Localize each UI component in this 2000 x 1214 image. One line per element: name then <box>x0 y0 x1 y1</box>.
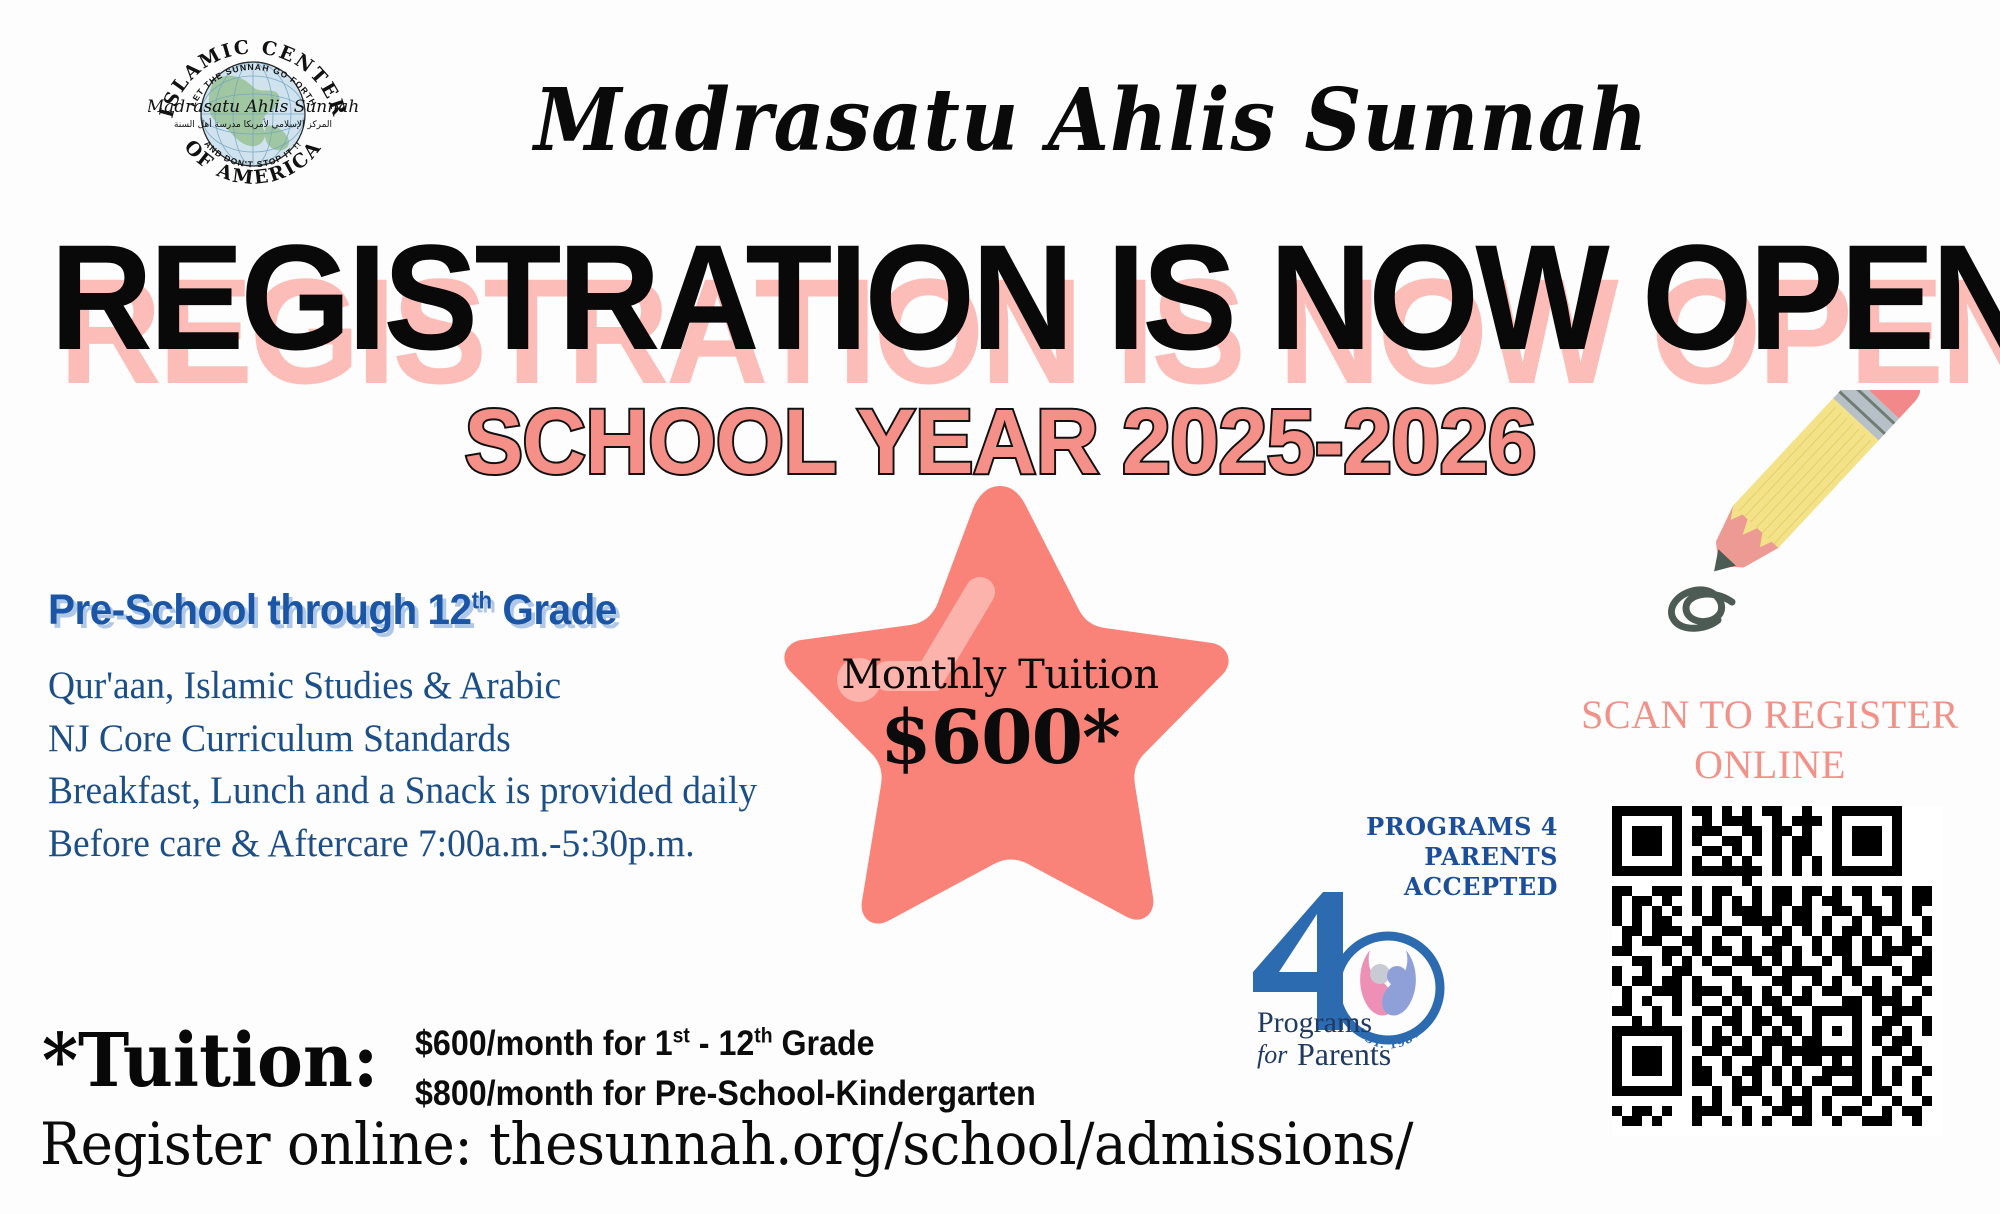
monthly-tuition-amount: $600* <box>760 698 1240 779</box>
grade-range-pre: Pre-School through 12 <box>48 586 472 634</box>
scan-to-register-label: SCAN TO REGISTER ONLINE <box>1560 690 1980 790</box>
registration-flyer: ISLAMIC CENTER LET THE SUNNAH GO FORTH A… <box>0 0 2000 1214</box>
p4p-word-for: for <box>1257 1040 1288 1069</box>
p4p-word-parents: Parents <box>1297 1036 1391 1072</box>
programs-for-parents-logo: EST. 1984 Programs for Parents <box>1245 880 1475 1090</box>
p4p-word-programs: Programs <box>1257 1006 1372 1039</box>
registration-qr-code[interactable] <box>1612 806 1942 1136</box>
tuition-line1-post: Grade <box>773 1024 875 1063</box>
register-online-link[interactable]: Register online: thesunnah.org/school/ad… <box>40 1115 1413 1173</box>
list-item: Qur'aan, Islamic Studies & Arabic <box>48 660 757 713</box>
grade-range-sup: th <box>472 589 492 615</box>
tuition-heading: *Tuition: <box>42 1024 378 1098</box>
grade-range-heading: Pre-School through 12th Grade <box>48 586 617 635</box>
program-feature-list: Qur'aan, Islamic Studies & Arabic NJ Cor… <box>48 660 757 871</box>
p4p-label-line1: PROGRAMS 4 PARENTS <box>1238 812 1558 872</box>
tuition-line-1: $600/month for 1st - 12th Grade <box>415 1019 1036 1069</box>
list-item: Before care & Aftercare 7:00a.m.-5:30p.m… <box>48 818 757 871</box>
star-badge-text: Monthly Tuition $600* <box>760 652 1240 779</box>
scan-label-line2: ONLINE <box>1560 740 1980 790</box>
seal-center-arabic: المركز الإسلامي لأمريكا مدرسة أهل السنة <box>174 118 332 130</box>
school-name-title: Madrasatu Ahlis Sunnah <box>534 78 1546 164</box>
list-item: NJ Core Curriculum Standards <box>48 713 757 766</box>
school-seal-logo: ISLAMIC CENTER LET THE SUNNAH GO FORTH A… <box>148 26 358 201</box>
tuition-line1-sup2: th <box>754 1024 772 1047</box>
grade-range-post: Grade <box>492 586 617 634</box>
seal-center-name: Madrasatu Ahlis Sunnah <box>148 97 358 117</box>
tuition-line1-sup1: st <box>673 1024 690 1047</box>
monthly-tuition-label: Monthly Tuition <box>760 652 1240 698</box>
pencil-icon <box>1620 390 1920 640</box>
headline-text: REGISTRATION IS NOW OPEN <box>50 222 1950 372</box>
tuition-detail-lines: $600/month for 1st - 12th Grade $800/mon… <box>415 1019 1036 1118</box>
headline-block: REGISTRATION IS NOW OPEN REGISTRATION IS… <box>0 222 2000 392</box>
pencil-illustration <box>1620 390 1920 640</box>
tuition-line1-pre: $600/month for 1 <box>415 1024 673 1063</box>
tuition-star-badge: Monthly Tuition $600* <box>760 480 1240 950</box>
scan-label-line1: SCAN TO REGISTER <box>1560 690 1980 740</box>
pencil-doodle-line <box>1671 590 1732 628</box>
list-item: Breakfast, Lunch and a Snack is provided… <box>48 765 757 818</box>
tuition-line1-mid: - 12 <box>690 1024 754 1063</box>
